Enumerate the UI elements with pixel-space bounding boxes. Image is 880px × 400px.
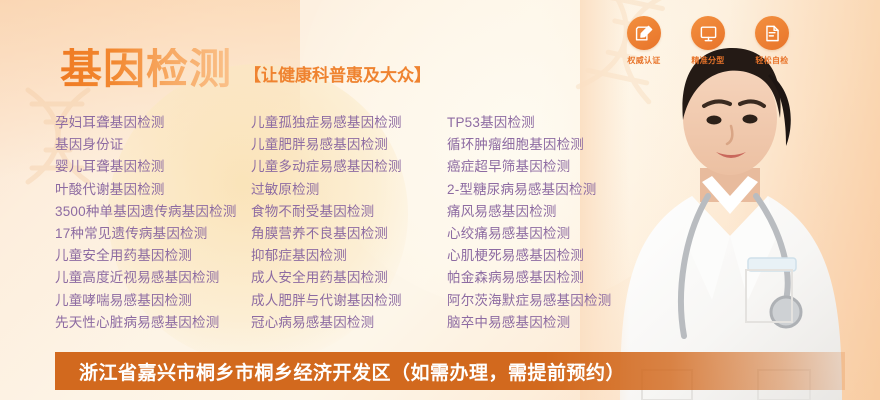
list-item[interactable]: 冠心病易感基因检测	[251, 312, 447, 334]
list-item[interactable]: 儿童哮喘易感基因检测	[55, 290, 251, 312]
list-item[interactable]: 痛风易感基因检测	[447, 201, 643, 223]
list-item[interactable]: 先天性心脏病易感基因检测	[55, 312, 251, 334]
address-bar: 浙江省嘉兴市桐乡市桐乡经济开发区（如需办理，需提前预约）	[55, 352, 845, 390]
list-item[interactable]: 3500种单基因遗传病基因检测	[55, 201, 251, 223]
test-item-column-1: 孕妇耳聋基因检测 基因身份证 婴儿耳聋基因检测 叶酸代谢基因检测 3500种单基…	[55, 112, 251, 334]
list-item[interactable]: 帕金森病易感基因检测	[447, 267, 643, 289]
address-text: 浙江省嘉兴市桐乡市桐乡经济开发区（如需办理，需提前预约）	[55, 358, 625, 385]
test-item-column-3: TP53基因检测 循环肿瘤细胞基因检测 癌症超早筛基因检测 2-型糖尿病易感基因…	[447, 112, 643, 334]
feature-label-authority: 权威认证	[627, 55, 660, 66]
list-item[interactable]: 孕妇耳聋基因检测	[55, 112, 251, 134]
list-item[interactable]: 17种常见遗传病基因检测	[55, 223, 251, 245]
list-item[interactable]: 过敏原检测	[251, 179, 447, 201]
list-item[interactable]: 抑郁症基因检测	[251, 245, 447, 267]
list-item[interactable]: 成人安全用药基因检测	[251, 267, 447, 289]
pen-square-icon	[627, 16, 661, 50]
monitor-icon	[691, 16, 725, 50]
list-item[interactable]: 角膜营养不良基因检测	[251, 223, 447, 245]
list-item[interactable]: 儿童高度近视易感基因检测	[55, 267, 251, 289]
page-subtitle: 【让健康科普惠及大众】	[244, 61, 431, 90]
list-item[interactable]: 儿童孤独症易感基因检测	[251, 112, 447, 134]
feature-item-selfcheck[interactable]: 轻松自检	[746, 16, 798, 66]
list-item[interactable]: 循环肿瘤细胞基因检测	[447, 134, 643, 156]
list-item[interactable]: 2-型糖尿病易感基因检测	[447, 179, 643, 201]
list-item[interactable]: 心肌梗死易感基因检测	[447, 245, 643, 267]
list-item[interactable]: 癌症超早筛基因检测	[447, 156, 643, 178]
list-item[interactable]: 阿尔茨海默症易感基因检测	[447, 290, 643, 312]
headline-group: 基因检测 【让健康科普惠及大众】	[60, 48, 431, 90]
feature-label-selfcheck: 轻松自检	[755, 55, 788, 66]
list-item[interactable]: TP53基因检测	[447, 112, 643, 134]
feature-label-typing: 精准分型	[691, 55, 724, 66]
feature-badges: 权威认证 精准分型 轻松自检	[618, 16, 798, 66]
list-item[interactable]: 儿童安全用药基因检测	[55, 245, 251, 267]
feature-item-typing[interactable]: 精准分型	[682, 16, 734, 66]
list-item[interactable]: 叶酸代谢基因检测	[55, 179, 251, 201]
list-item[interactable]: 基因身份证	[55, 134, 251, 156]
list-item[interactable]: 脑卒中易感基因检测	[447, 312, 643, 334]
test-item-column-2: 儿童孤独症易感基因检测 儿童肥胖易感基因检测 儿童多动症易感基因检测 过敏原检测…	[251, 112, 447, 334]
document-pen-icon	[755, 16, 789, 50]
list-item[interactable]: 儿童多动症易感基因检测	[251, 156, 447, 178]
page-title: 基因检测	[60, 48, 232, 90]
list-item[interactable]: 食物不耐受基因检测	[251, 201, 447, 223]
list-item[interactable]: 儿童肥胖易感基因检测	[251, 134, 447, 156]
list-item[interactable]: 婴儿耳聋基因检测	[55, 156, 251, 178]
list-item[interactable]: 心绞痛易感基因检测	[447, 223, 643, 245]
gene-testing-promo-banner: 基因检测 【让健康科普惠及大众】 权威认证 精准分型	[0, 0, 880, 400]
feature-item-authority[interactable]: 权威认证	[618, 16, 670, 66]
test-item-columns: 孕妇耳聋基因检测 基因身份证 婴儿耳聋基因检测 叶酸代谢基因检测 3500种单基…	[55, 112, 643, 334]
list-item[interactable]: 成人肥胖与代谢基因检测	[251, 290, 447, 312]
